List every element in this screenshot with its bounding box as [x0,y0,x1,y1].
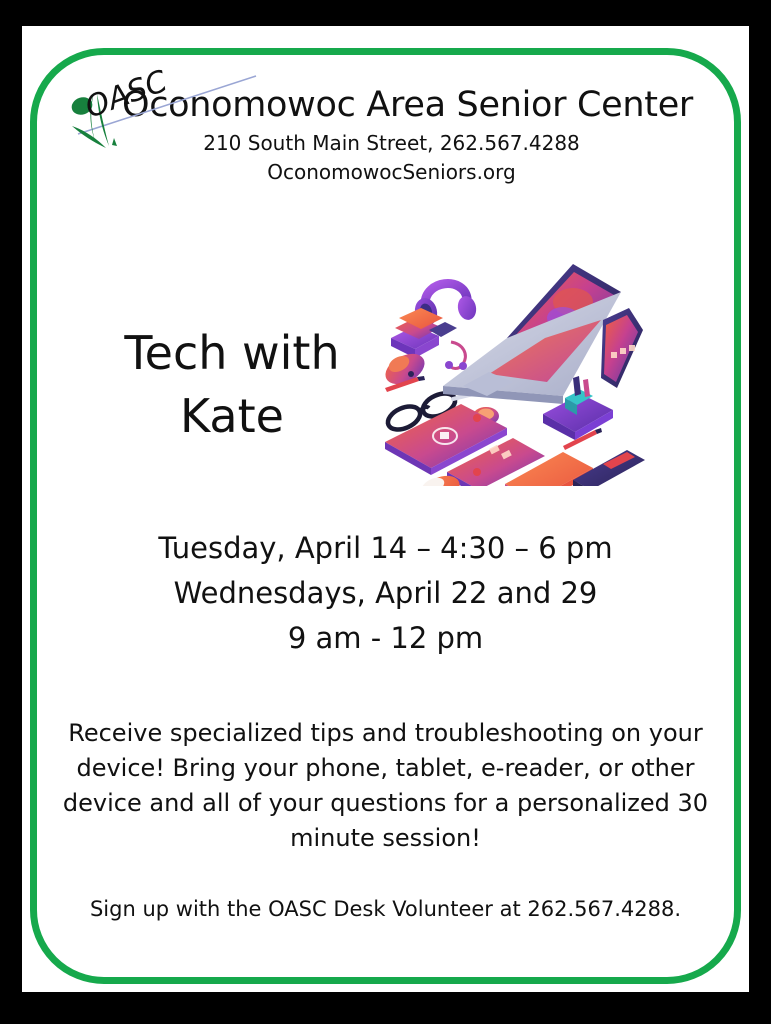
description-block: Receive specialized tips and troubleshoo… [62,716,709,856]
poster-sheet: OASC Oconomowoc Area Senior Center 210 S… [22,26,749,992]
hero-row: Tech with Kate [22,238,749,488]
schedule-block: Tuesday, April 14 – 4:30 – 6 pm Wednesda… [22,526,749,661]
header: OASC Oconomowoc Area Senior Center 210 S… [22,84,749,186]
signup-block: Sign up with the OASC Desk Volunteer at … [22,895,749,923]
earbuds-icon [445,342,467,370]
program-title-line-2: Kate [82,385,382,448]
description-line-1: Receive specialized tips and troubleshoo… [62,716,709,751]
logo-acronym-text: OASC [81,68,172,126]
schedule-line-3: 9 am - 12 pm [22,616,749,661]
description-line-4: minute session! [62,821,709,856]
laptop-icon [443,264,621,404]
description-line-2: device! Bring your phone, tablet, e-read… [62,751,709,786]
oasc-person-logo-icon: OASC [60,68,260,154]
schedule-line-1: Tuesday, April 14 – 4:30 – 6 pm [22,526,749,571]
isometric-tech-devices-illustration [377,246,647,486]
books-icon [391,308,457,358]
flyer-root: OASC Oconomowoc Area Senior Center 210 S… [0,0,771,1024]
poster-content: OASC Oconomowoc Area Senior Center 210 S… [22,26,749,992]
org-website: OconomowocSeniors.org [22,159,749,186]
program-title: Tech with Kate [82,322,382,448]
program-title-line-1: Tech with [82,322,382,385]
smartphone-icon [601,308,643,388]
signup-instruction: Sign up with the OASC Desk Volunteer at … [90,897,681,921]
description-line-3: device and all of your questions for a p… [62,786,709,821]
schedule-line-2: Wednesdays, April 22 and 29 [22,571,749,616]
